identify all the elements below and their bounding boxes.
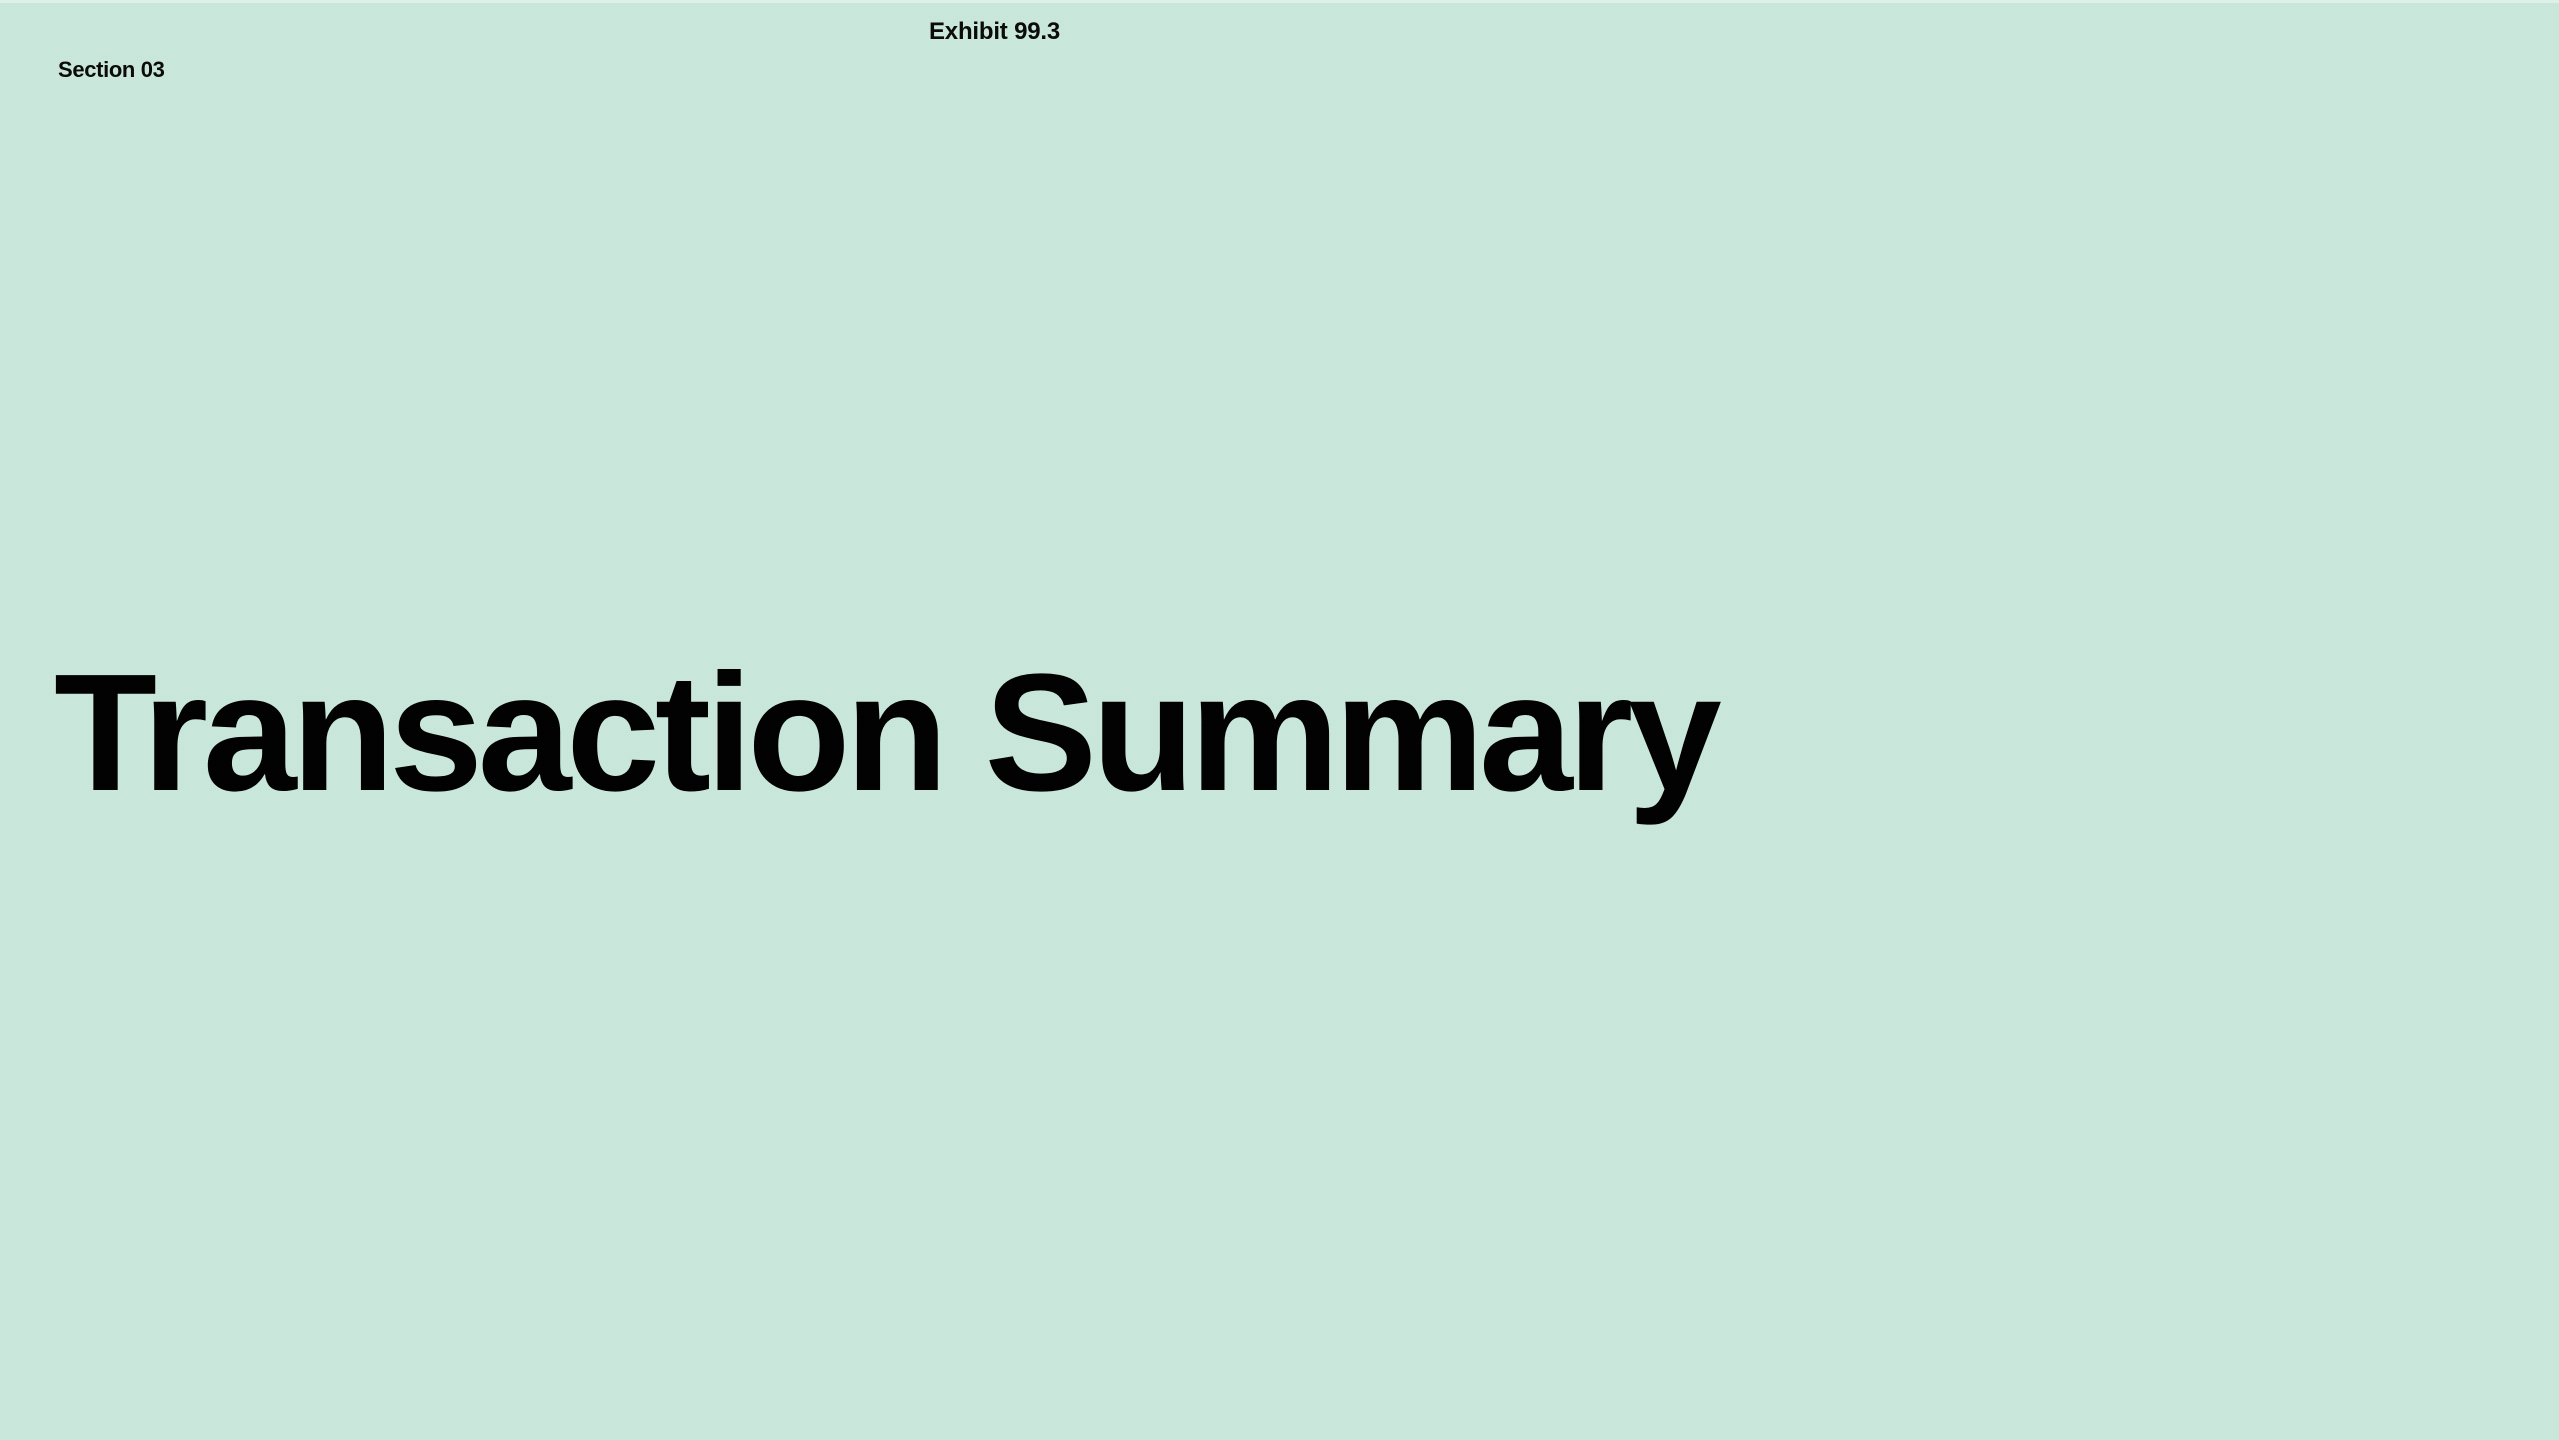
exhibit-label: Exhibit 99.3 (929, 18, 1060, 46)
page-title: Transaction Summary (54, 648, 1717, 818)
top-edge-hairline (0, 0, 2559, 3)
slide-canvas: Exhibit 99.3 Section 03 Transaction Summ… (0, 0, 2559, 1440)
section-eyebrow: Section 03 (58, 57, 165, 83)
